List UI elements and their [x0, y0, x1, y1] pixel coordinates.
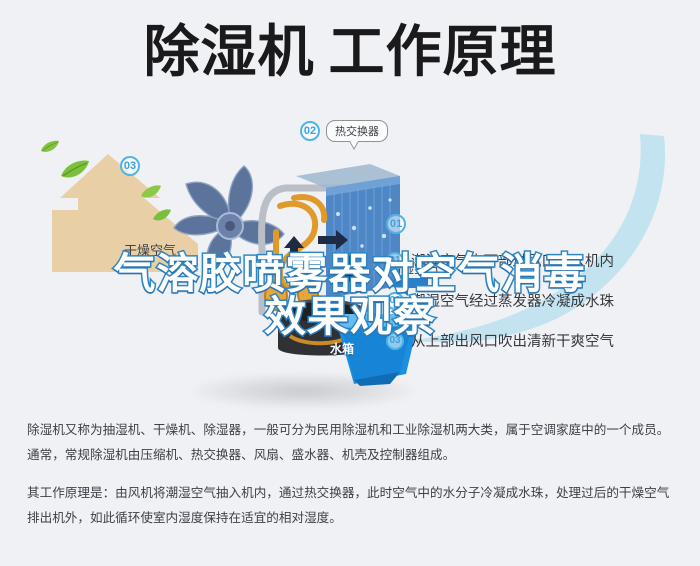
badge-02: 02 [300, 121, 320, 141]
step-text: 从上部出风口吹出清新干爽空气 [411, 330, 614, 351]
leaf-icon [60, 160, 90, 185]
water-tank-label: 水箱 [330, 340, 354, 357]
leaf-icon [40, 140, 60, 159]
step-item: 01 潮湿空气由下部进风口吸入机内 [386, 250, 686, 271]
dehumidifier-diagram: 02 热交换器 03 干燥空气 01 潮湿空气 水箱 01 潮湿空气由下部进风口… [0, 112, 700, 404]
badge-03: 03 [120, 156, 140, 176]
badge-01: 01 [386, 214, 406, 234]
body-copy: 除湿机又称为抽湿机、干燥机、除湿器，一般可分为民用除湿机和工业除湿机两大类，属于… [27, 418, 675, 530]
heat-exchanger-callout: 02 热交换器 [300, 120, 388, 142]
step-item: 02 潮湿空气经过蒸发器冷凝成水珠 [386, 290, 686, 311]
step-list: 01 潮湿空气由下部进风口吸入机内 02 潮湿空气经过蒸发器冷凝成水珠 03 从… [386, 250, 686, 370]
title-part-2: 工作原理 [329, 20, 557, 83]
dry-air-label: 干燥空气 [124, 240, 176, 259]
paragraph-2: 其工作原理是：由风机将潮湿空气抽入机内，通过热交换器，此时空气中的水分子冷凝成水… [27, 481, 675, 530]
title-part-1: 除湿机 [144, 20, 315, 83]
step-badge: 02 [386, 292, 404, 310]
heat-exchanger-label: 热交换器 [326, 120, 388, 142]
infographic-page: 除湿机工作原理 [0, 0, 700, 566]
step-text: 潮湿空气经过蒸发器冷凝成水珠 [411, 290, 614, 311]
leaf-icon [140, 184, 162, 205]
page-title: 除湿机工作原理 [0, 22, 700, 82]
paragraph-1: 除湿机又称为抽湿机、干燥机、除湿器，一般可分为民用除湿机和工业除湿机两大类，属于… [27, 418, 675, 467]
step-text: 潮湿空气由下部进风口吸入机内 [411, 250, 614, 271]
step-item: 03 从上部出风口吹出清新干爽空气 [386, 330, 686, 351]
step-badge: 01 [386, 252, 404, 270]
leaf-icon [152, 208, 172, 228]
step-badge: 03 [386, 332, 404, 350]
